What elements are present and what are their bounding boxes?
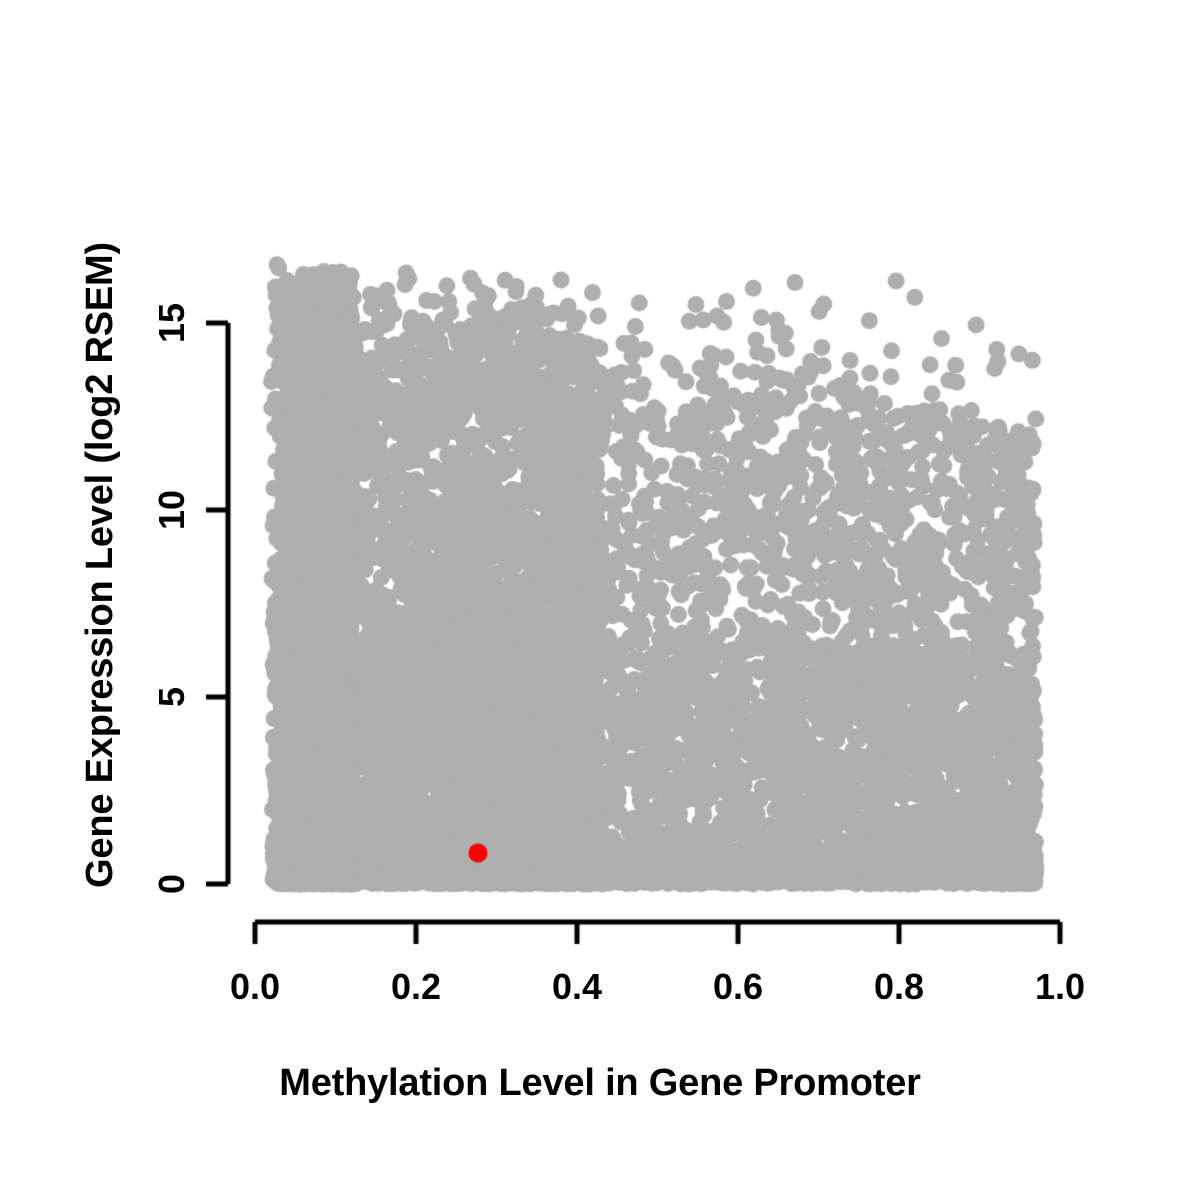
x-axis-label: Methylation Level in Gene Promoter [0, 1062, 1200, 1105]
x-tick-label-5: 1.0 [1035, 966, 1085, 1008]
x-tick-label-1: 0.2 [391, 966, 441, 1008]
x-tick-label-4: 0.8 [874, 966, 924, 1008]
x-tick-label-3: 0.6 [713, 966, 763, 1008]
scatter-plot-figure: All genes CHAT 0.00.20.40.60.81.0 051015… [0, 0, 1200, 1200]
scatter-plot-canvas [0, 0, 1200, 1200]
y-tick-label-1: 5 [151, 687, 193, 707]
x-tick-label-2: 0.4 [552, 966, 602, 1008]
y-axis-label-wrapper: Gene Expression Level (log2 RSEM) [75, 135, 125, 995]
y-tick-label-0: 0 [151, 874, 193, 894]
x-tick-label-0: 0.0 [230, 966, 280, 1008]
y-axis-label: Gene Expression Level (log2 RSEM) [79, 242, 122, 888]
y-tick-label-3: 15 [151, 303, 193, 343]
y-tick-label-2: 10 [151, 490, 193, 530]
